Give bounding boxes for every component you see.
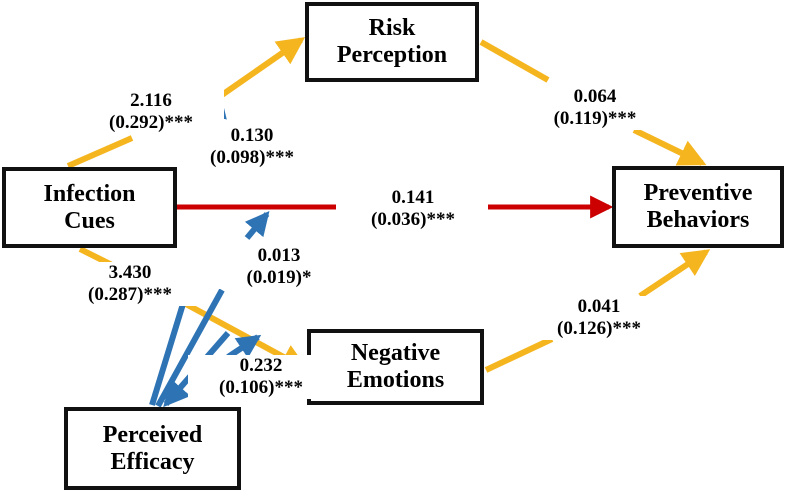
- node-perceived-efficacy[interactable]: Perceived Efficacy: [64, 407, 241, 490]
- edge-segment-mod-pb-head: [247, 214, 267, 238]
- standard-error-value: (0.019)*: [219, 267, 339, 289]
- edge-label-infection-cues-to-preventive-behaviors: 0.141 (0.036)***: [338, 187, 488, 231]
- edge-label-moderation-on-preventive-behaviors: 0.013 (0.019)*: [219, 245, 339, 289]
- coefficient-value: 0.130: [182, 125, 322, 147]
- edge-segment-mod-ne-head: [228, 337, 258, 357]
- standard-error-value: (0.126)***: [524, 318, 674, 340]
- node-negative-emotions-line1: Negative: [351, 340, 440, 367]
- edge-label-risk-perception-to-preventive-behaviors: 0.064 (0.119)***: [520, 86, 670, 130]
- node-risk-perception-line1: Risk: [369, 15, 416, 42]
- node-risk-perception-line2: Perception: [337, 42, 447, 69]
- coefficient-value: 0.041: [524, 296, 674, 318]
- edge-segment-ic-rp-a: [68, 138, 132, 166]
- node-perceived-efficacy-line2: Efficacy: [111, 449, 195, 476]
- edge-label-infection-cues-to-negative-emotions: 3.430 (0.287)***: [55, 262, 205, 306]
- path-diagram: Risk Perception Infection Cues Preventiv…: [0, 0, 786, 493]
- node-preventive-behaviors[interactable]: Preventive Behaviors: [612, 166, 784, 248]
- node-infection-cues-line1: Infection: [44, 181, 136, 208]
- node-infection-cues[interactable]: Infection Cues: [2, 167, 177, 248]
- node-preventive-behaviors-line1: Preventive: [644, 180, 753, 207]
- node-negative-emotions-line2: Emotions: [347, 367, 444, 394]
- node-infection-cues-line2: Cues: [64, 208, 115, 235]
- coefficient-value: 0.064: [520, 86, 670, 108]
- edge-label-negative-emotions-to-preventive-behaviors: 0.041 (0.126)***: [524, 296, 674, 340]
- edge-segment-ne-pb-b: [640, 252, 706, 296]
- standard-error-value: (0.098)***: [182, 147, 322, 169]
- coefficient-value: 0.232: [188, 355, 334, 377]
- coefficient-value: 0.013: [219, 245, 339, 267]
- edge-label-moderation-on-risk-perception: 0.130 (0.098)***: [182, 125, 322, 169]
- node-perceived-efficacy-line1: Perceived: [103, 422, 203, 449]
- standard-error-value: (0.119)***: [520, 108, 670, 130]
- coefficient-value: 3.430: [55, 262, 205, 284]
- edge-segment-ne-pb-a: [486, 339, 552, 370]
- edge-segment-rp-pb-b: [634, 130, 702, 163]
- standard-error-value: (0.287)***: [55, 284, 205, 306]
- node-preventive-behaviors-line2: Behaviors: [647, 207, 750, 234]
- edge-label-moderation-on-negative-emotions: 0.232 (0.106)***: [188, 355, 334, 399]
- node-risk-perception[interactable]: Risk Perception: [305, 2, 479, 82]
- standard-error-value: (0.036)***: [338, 209, 488, 231]
- coefficient-value: 0.141: [338, 187, 488, 209]
- standard-error-value: (0.106)***: [188, 377, 334, 399]
- coefficient-value: 2.116: [78, 90, 224, 112]
- edge-segment-rp-pb-a: [481, 42, 548, 80]
